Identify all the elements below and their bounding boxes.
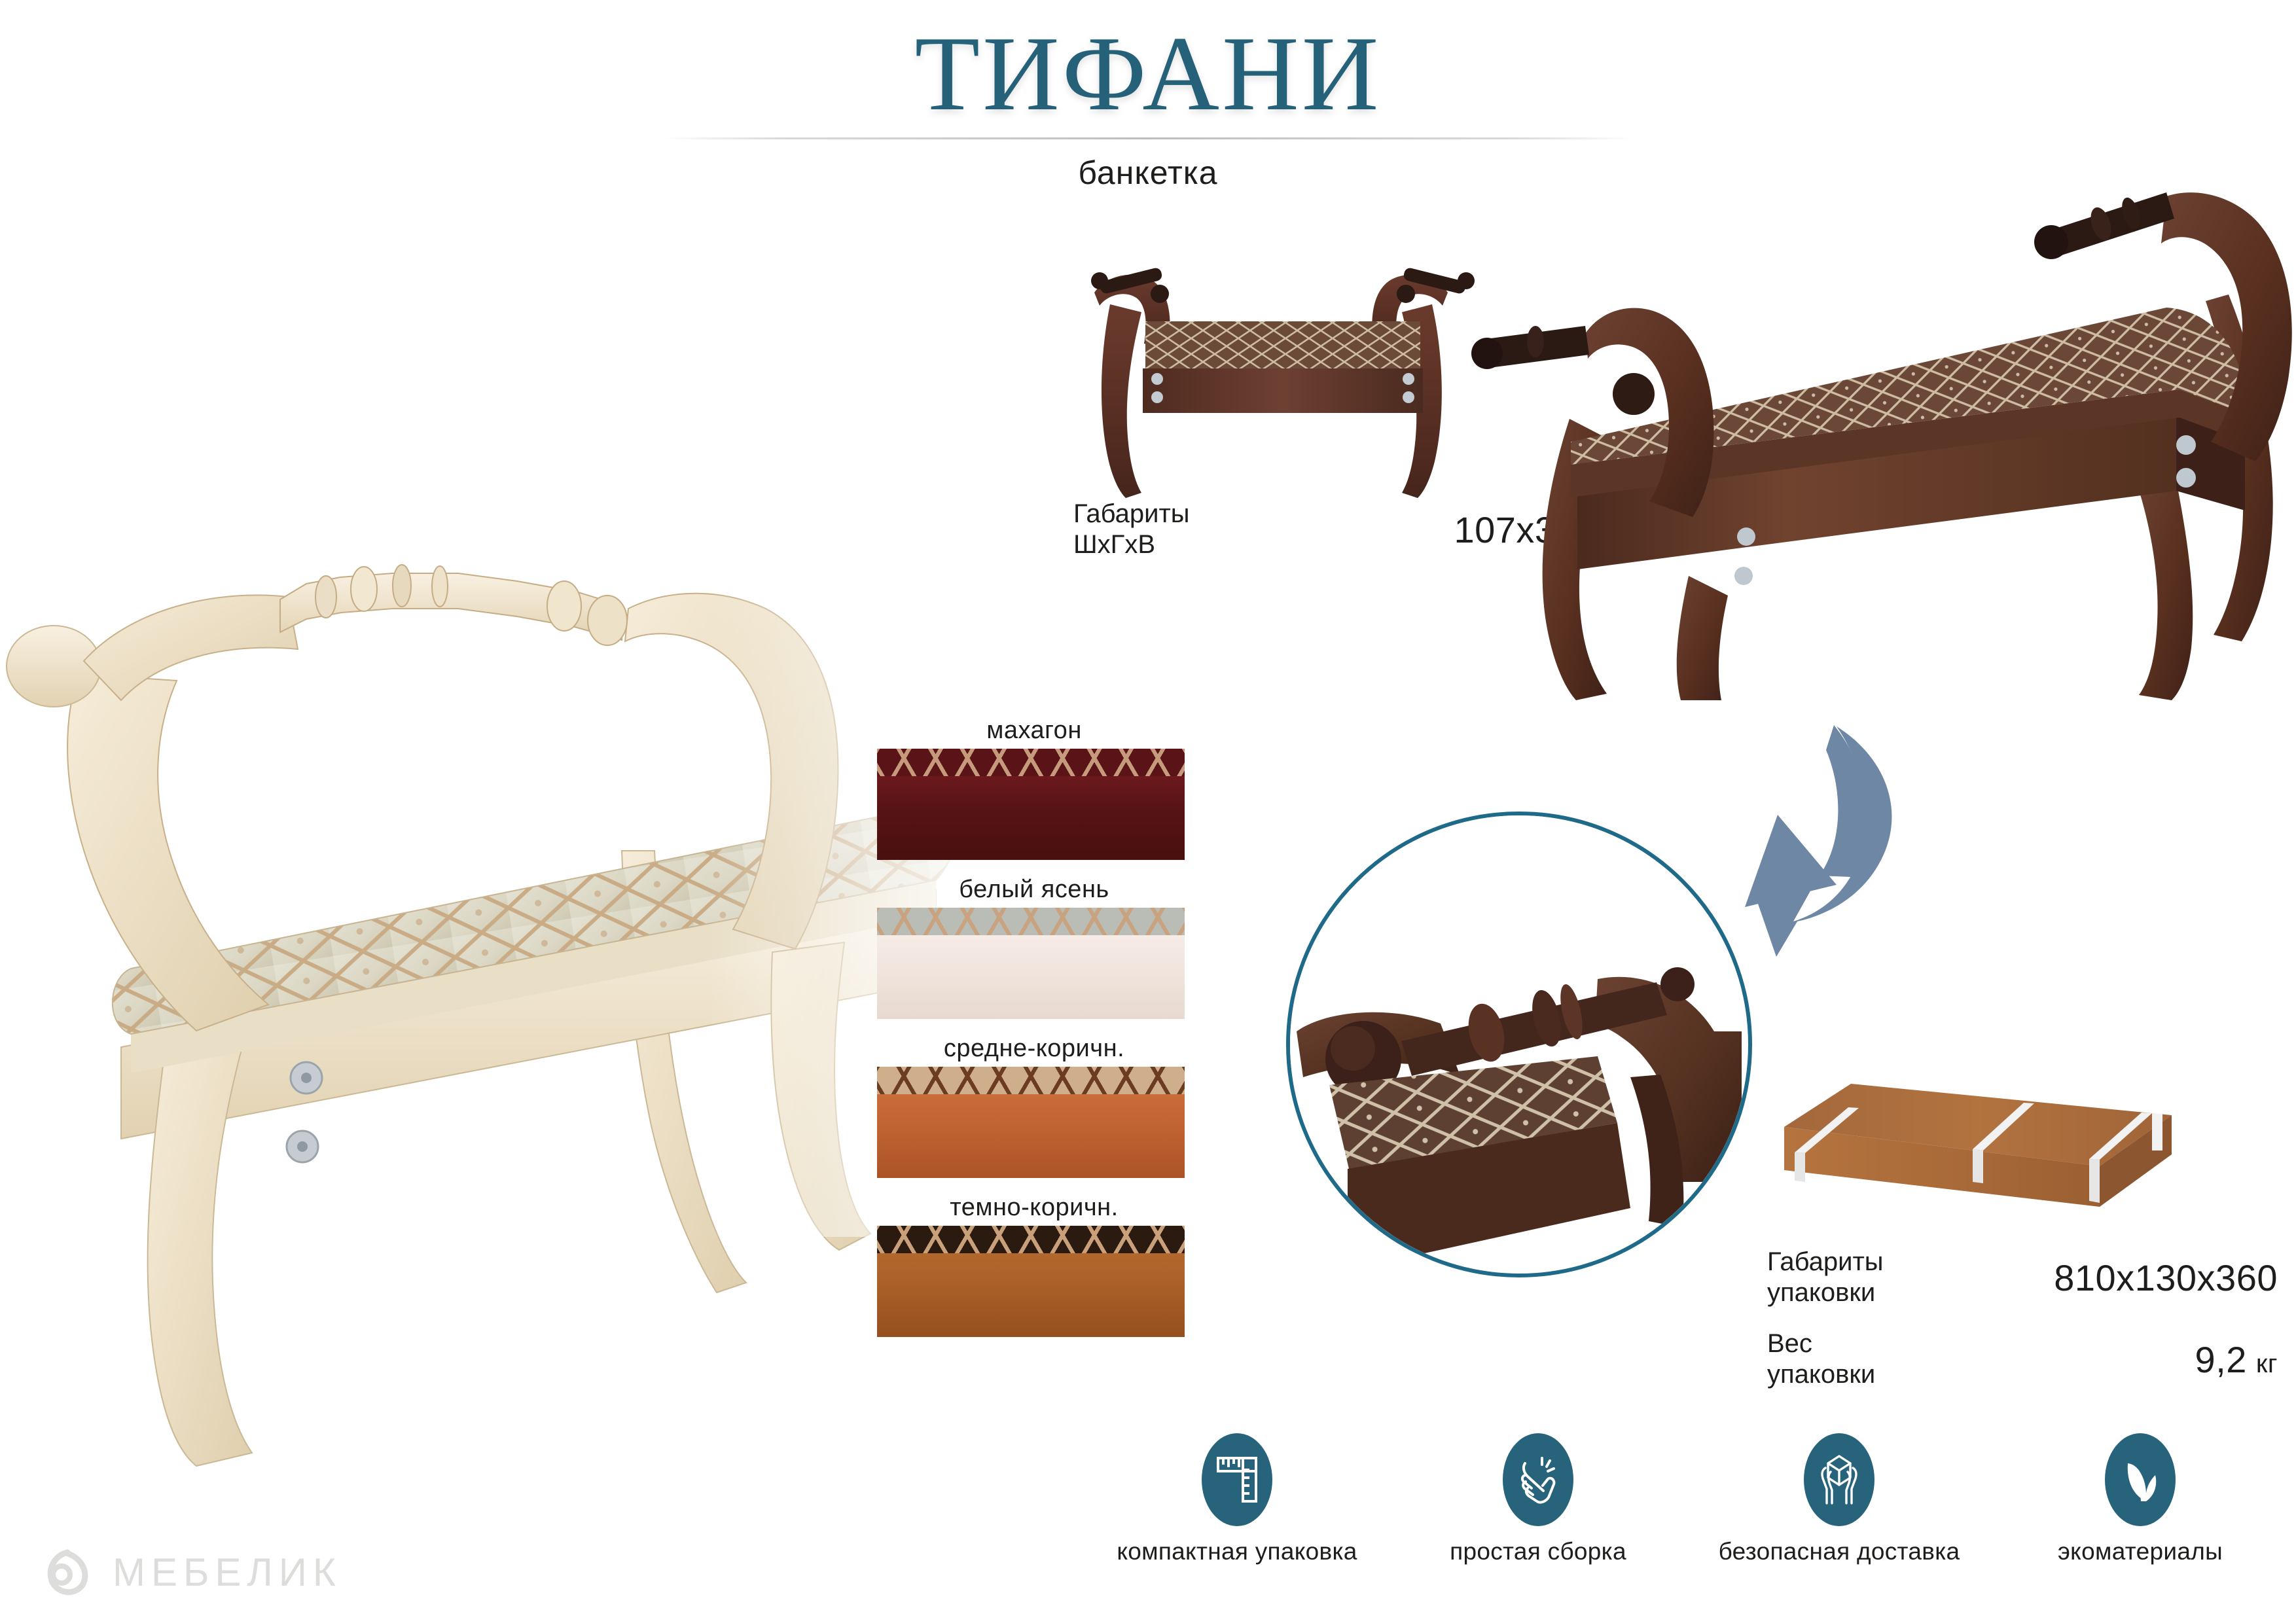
finish-swatch-medium-brown[interactable]: средне-коричн.	[877, 1035, 1191, 1178]
detail-closeup-circle	[1286, 811, 1752, 1277]
finish-chip	[877, 1226, 1185, 1337]
finish-label: белый ясень	[877, 876, 1191, 904]
finish-label: темно-коричн.	[877, 1194, 1191, 1222]
title-divider	[664, 137, 1632, 139]
finish-swatch-mahogany[interactable]: махагон	[877, 717, 1191, 860]
brand-logo: МЕБЕЛИК	[39, 1544, 342, 1601]
main-product-image-light-bench	[0, 393, 982, 1414]
feature-compact-packaging[interactable]: компактная упаковка	[1106, 1433, 1368, 1565]
finish-swatch-list: махагон белый ясень средне-коричн. темно…	[877, 717, 1191, 1353]
product-image-front-view-mahogany	[1073, 252, 1492, 514]
feature-safe-delivery[interactable]: безопасная доставка	[1708, 1433, 1970, 1565]
feature-eco-materials[interactable]: экоматериалы	[2009, 1433, 2271, 1565]
finish-fabric-strip	[877, 749, 1185, 776]
finish-swatch-dark-brown[interactable]: темно-коричн.	[877, 1194, 1191, 1337]
feature-label: экоматериалы	[2009, 1538, 2271, 1565]
ruler-icon	[1202, 1433, 1272, 1526]
package-dimensions-value: 810х130х360	[2054, 1257, 2278, 1299]
finish-chip	[877, 1067, 1185, 1178]
hand-snap-icon	[1503, 1433, 1573, 1526]
feature-badges-row: компактная упаковка простая сборка	[1106, 1433, 2271, 1565]
trefoil-knot-icon	[39, 1544, 96, 1601]
title-block: ТИФАНИ банкетка	[0, 20, 2296, 192]
finish-wood-strip	[877, 935, 1185, 1019]
package-weight-number: 9,2	[2195, 1339, 2247, 1380]
product-image-angled-view-dark	[1473, 183, 2294, 700]
finish-wood-strip	[877, 1094, 1185, 1178]
feature-label: простая сборка	[1407, 1538, 1669, 1565]
package-weight-label: Вес упаковки	[1767, 1329, 1875, 1390]
feature-easy-assembly[interactable]: простая сборка	[1407, 1433, 1669, 1565]
finish-fabric-strip	[877, 1067, 1185, 1094]
finish-wood-strip	[877, 776, 1185, 860]
finish-fabric-strip	[877, 1226, 1185, 1253]
brand-wordmark: МЕБЕЛИК	[113, 1553, 342, 1592]
package-dimensions-label: Габариты упаковки	[1767, 1247, 1884, 1308]
finish-swatch-white-ash[interactable]: белый ясень	[877, 876, 1191, 1019]
package-dimensions-row: Габариты упаковки 810х130х360	[1767, 1247, 2278, 1308]
feature-label: безопасная доставка	[1708, 1538, 1970, 1565]
package-weight-unit: кг	[2256, 1349, 2278, 1378]
package-weight-row: Вес упаковки 9,2кг	[1767, 1329, 2278, 1390]
finish-wood-strip	[877, 1253, 1185, 1337]
hands-box-icon	[1804, 1433, 1874, 1526]
leaf-icon	[2105, 1433, 2176, 1526]
finish-chip	[877, 749, 1185, 860]
finish-label: средне-коричн.	[877, 1035, 1191, 1063]
finish-label: махагон	[877, 717, 1191, 745]
package-weight-value: 9,2кг	[2195, 1338, 2278, 1381]
finish-chip	[877, 908, 1185, 1019]
package-box-image	[1767, 1067, 2186, 1237]
product-dimensions-label: Габариты ШхГхВ	[1073, 499, 1190, 560]
curved-arrow-icon	[1715, 713, 1977, 975]
page-title: ТИФАНИ	[0, 20, 2296, 128]
finish-fabric-strip	[877, 908, 1185, 935]
feature-label: компактная упаковка	[1106, 1538, 1368, 1565]
